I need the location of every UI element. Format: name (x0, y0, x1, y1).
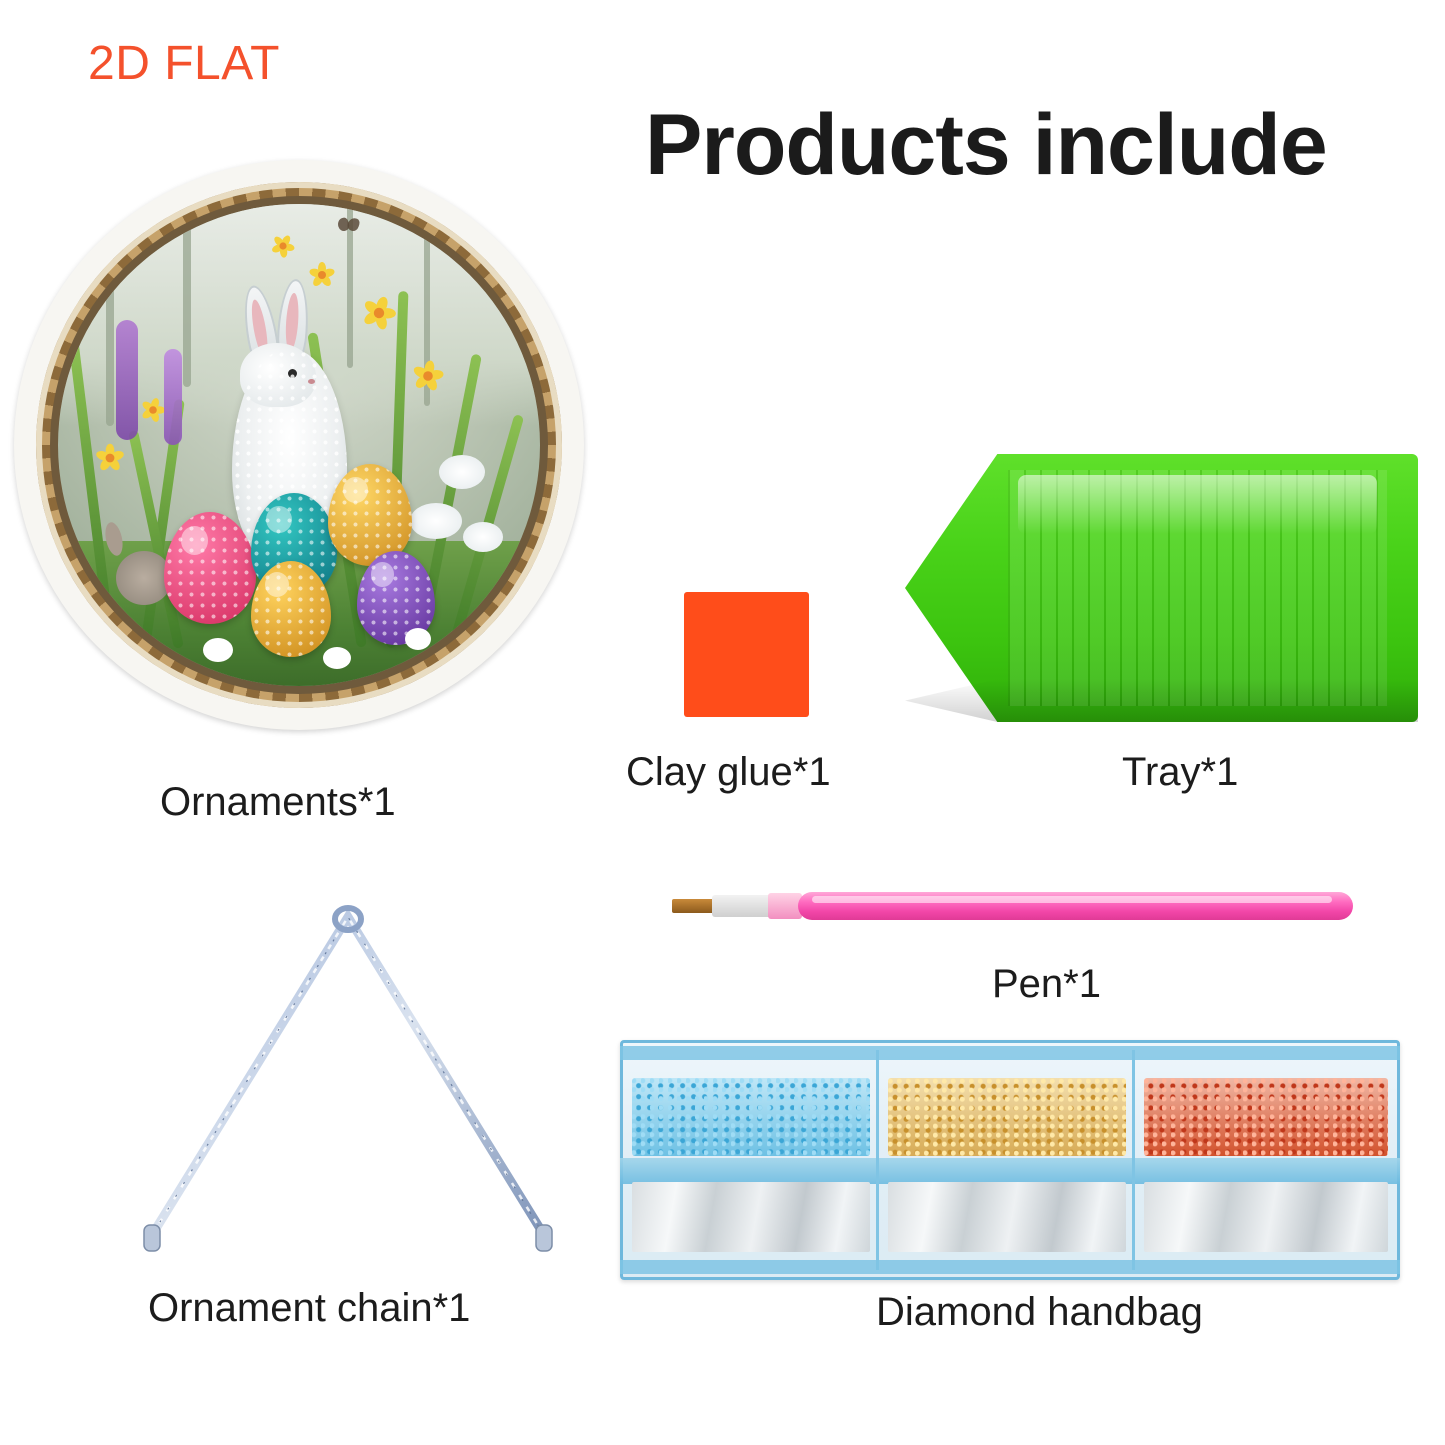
handbag-compartment (1138, 1050, 1394, 1270)
pen-collar (768, 893, 802, 919)
foil-pouch (632, 1182, 870, 1252)
tree-icon (183, 204, 191, 387)
foil-pouch (1144, 1182, 1388, 1252)
daffodil-flower-icon (363, 296, 397, 330)
daffodil-flower-icon (309, 262, 335, 288)
red-beads (1144, 1078, 1388, 1156)
tray-image (905, 454, 1418, 722)
purple-flower-icon (116, 320, 138, 440)
diamond-handbag-label: Diamond handbag (876, 1290, 1203, 1335)
pen-label: Pen*1 (992, 962, 1101, 1007)
page-title: Products include (645, 96, 1327, 195)
daffodil-flower-icon (95, 444, 124, 473)
ornament-image (14, 160, 584, 730)
gold-beads (888, 1078, 1126, 1156)
foil-pouch (888, 1182, 1126, 1252)
ornaments-label: Ornaments*1 (160, 780, 396, 825)
tray-highlight (1018, 475, 1377, 534)
tree-icon (106, 204, 114, 426)
tray-shadow (905, 679, 1418, 722)
blue-beads (632, 1078, 870, 1156)
daffodil-flower-icon (271, 234, 294, 257)
diamond-handbag-image (620, 1040, 1400, 1280)
pen-highlight (812, 896, 1332, 903)
daffodil-flower-icon (141, 397, 166, 422)
daffodil-flower-icon (412, 360, 443, 391)
ornament-chain-image (140, 905, 560, 1265)
badge-2d-flat: 2D FLAT (88, 36, 280, 91)
tray-label: Tray*1 (1122, 750, 1238, 795)
clay-glue-label: Clay glue*1 (626, 750, 831, 795)
ornament-disc (14, 160, 584, 730)
purple-flower-icon (164, 349, 182, 445)
handbag-compartment (882, 1050, 1135, 1270)
pen-tip (672, 899, 714, 913)
chain-svg (140, 905, 560, 1265)
white-flower-icon (439, 455, 485, 489)
pen-image (672, 885, 1353, 929)
pen-ferrule (712, 895, 772, 917)
ornament-chain-label: Ornament chain*1 (148, 1286, 470, 1331)
handbag-compartment (626, 1050, 879, 1270)
white-flower-icon (410, 503, 462, 539)
butterfly-icon (338, 218, 360, 232)
daisy-icon (203, 638, 233, 662)
ornament-scene (58, 204, 540, 686)
white-flower-icon (463, 522, 503, 552)
clay-glue-image (684, 592, 809, 717)
